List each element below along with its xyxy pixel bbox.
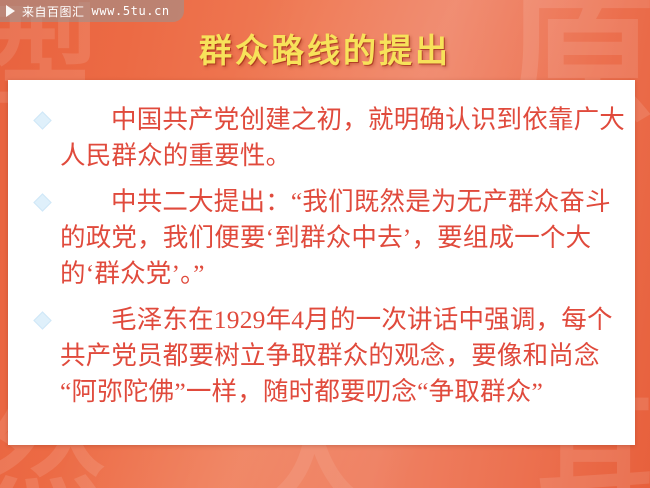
body-paragraph: 中国共产党创建之初，就明确认识到依靠广大人民群众的重要性。 bbox=[60, 102, 631, 174]
bullet-item: 中国共产党创建之初，就明确认识到依靠广大人民群众的重要性。 bbox=[8, 102, 635, 174]
diamond-bullet-icon bbox=[33, 193, 51, 211]
diamond-bullet-icon bbox=[33, 311, 51, 329]
diamond-bullet-icon bbox=[33, 111, 51, 129]
presentation-slide: 型 原 然 大 耳 来自百图汇 www.5tu.cn 群众路线的提出 中国共产党… bbox=[0, 0, 650, 488]
bullet-item: 毛泽东在1929年4月的一次讲话中强调，每个共产党员都要树立争取群众的观念，要像… bbox=[8, 302, 635, 410]
body-paragraph: 毛泽东在1929年4月的一次讲话中强调，每个共产党员都要树立争取群众的观念，要像… bbox=[60, 302, 631, 410]
bullet-item: 中共二大提出：“我们既然是为无产群众奋斗的政党，我们便要‘到群众中去’，要组成一… bbox=[8, 184, 635, 292]
body-paragraph: 中共二大提出：“我们既然是为无产群众奋斗的政党，我们便要‘到群众中去’，要组成一… bbox=[60, 184, 631, 292]
source-watermark-bar: 来自百图汇 www.5tu.cn bbox=[0, 0, 184, 22]
slide-title-text: 群众路线的提出 bbox=[199, 24, 451, 72]
slide-title: 群众路线的提出 bbox=[0, 22, 650, 74]
watermark-source-label: 来自百图汇 bbox=[22, 3, 85, 20]
play-triangle-icon bbox=[6, 5, 15, 17]
watermark-url: www.5tu.cn bbox=[92, 4, 170, 18]
slide-content-panel: 中国共产党创建之初，就明确认识到依靠广大人民群众的重要性。 中共二大提出：“我们… bbox=[8, 80, 635, 445]
